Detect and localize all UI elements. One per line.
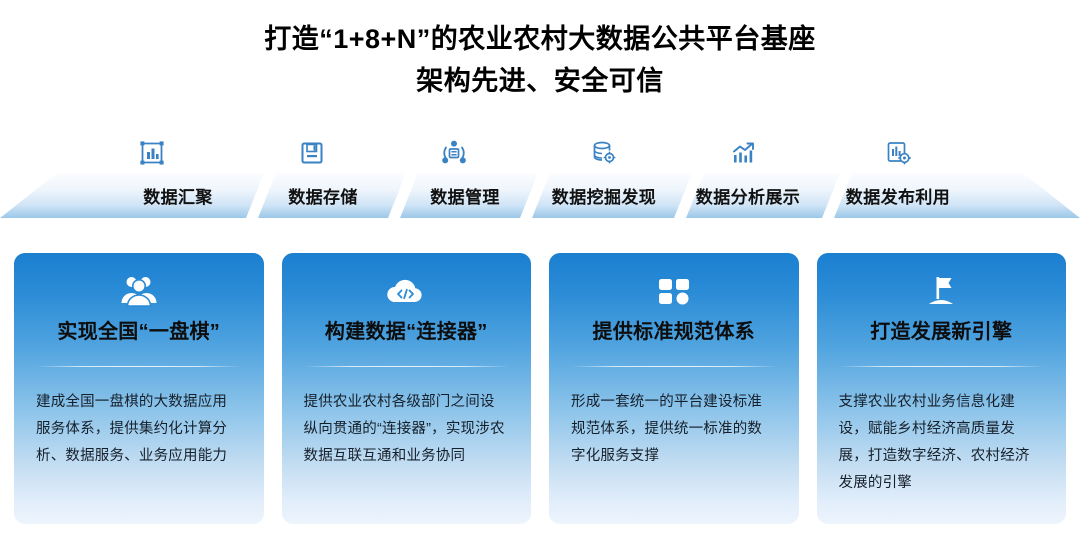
ribbon-step-label: 数据发布利用 (846, 183, 950, 208)
people-group-icon (119, 271, 159, 311)
ribbon-step-2[interactable]: 数据存储 (268, 173, 378, 218)
ribbon-step-label: 数据汇聚 (143, 183, 213, 208)
floppy-disk-icon (286, 136, 338, 170)
trending-bar-chart-icon (718, 136, 770, 170)
card-divider (571, 366, 777, 367)
card-divider (304, 366, 510, 367)
ribbon-step-4[interactable]: 数据挖掘发现 (548, 173, 660, 218)
bar-chart-frame-icon (126, 136, 178, 170)
document-gear-icon (872, 136, 924, 170)
feature-card[interactable]: 构建数据“连接器” 提供农业农村各级部门之间设纵向贯通的“连接器”，实现涉农数据… (282, 253, 532, 524)
feature-card[interactable]: 打造发展新引擎 支撑农业农村业务信息化建设，赋能乡村经济高质量发展，打造数字经济… (817, 253, 1067, 524)
feature-card-body: 形成一套统一的平台建设标准规范体系，提供统一标准的数字化服务支撑 (571, 389, 777, 470)
ribbon-step-5[interactable]: 数据分析展示 (692, 173, 804, 218)
cloud-code-icon (383, 271, 429, 311)
ribbon-step-6[interactable]: 数据发布利用 (842, 173, 954, 218)
page-title: 打造“1+8+N”的农业农村大数据公共平台基座 架构先进、安全可信 (0, 18, 1080, 102)
process-ribbon: 数据汇聚 数据存储 (0, 136, 1080, 222)
feature-card-body: 提供农业农村各级部门之间设纵向贯通的“连接器”，实现涉农数据互联互通和业务协同 (304, 389, 510, 470)
ribbon-step-label: 数据挖掘发现 (552, 183, 656, 208)
title-line-1: 打造“1+8+N”的农业农村大数据公共平台基座 (0, 18, 1080, 60)
feature-card-title: 打造发展新引擎 (870, 315, 1012, 344)
feature-card[interactable]: 提供标准规范体系 形成一套统一的平台建设标准规范体系，提供统一标准的数字化服务支… (549, 253, 799, 524)
feature-card-body: 建成全国一盘棋的大数据应用服务体系，提供集约化计算分析、数据服务、业务应用能力 (36, 389, 242, 470)
node-network-database-icon (428, 136, 480, 170)
infographic-page: 打造“1+8+N”的农业农村大数据公共平台基座 架构先进、安全可信 数据汇 (0, 0, 1080, 558)
ribbon-step-label: 数据分析展示 (696, 183, 800, 208)
flag-icon (921, 271, 961, 311)
feature-card-title: 实现全国“一盘棋” (57, 315, 220, 344)
card-divider (36, 366, 242, 367)
ribbon-step-label: 数据管理 (430, 183, 500, 208)
feature-card[interactable]: 实现全国“一盘棋” 建成全国一盘棋的大数据应用服务体系，提供集约化计算分析、数据… (14, 253, 264, 524)
ribbon-step-1[interactable]: 数据汇聚 (110, 173, 246, 218)
database-gear-icon (578, 136, 630, 170)
feature-card-list: 实现全国“一盘棋” 建成全国一盘棋的大数据应用服务体系，提供集约化计算分析、数据… (14, 253, 1066, 524)
grid-blocks-icon (654, 271, 694, 311)
feature-card-body: 支撑农业农村业务信息化建设，赋能乡村经济高质量发展，打造数字经济、农村经济发展的… (839, 389, 1045, 497)
feature-card-title: 提供标准规范体系 (593, 315, 755, 344)
feature-card-title: 构建数据“连接器” (325, 315, 488, 344)
card-divider (839, 366, 1045, 367)
ribbon-step-3[interactable]: 数据管理 (410, 173, 520, 218)
title-line-2: 架构先进、安全可信 (0, 60, 1080, 102)
ribbon-step-label: 数据存储 (288, 183, 358, 208)
